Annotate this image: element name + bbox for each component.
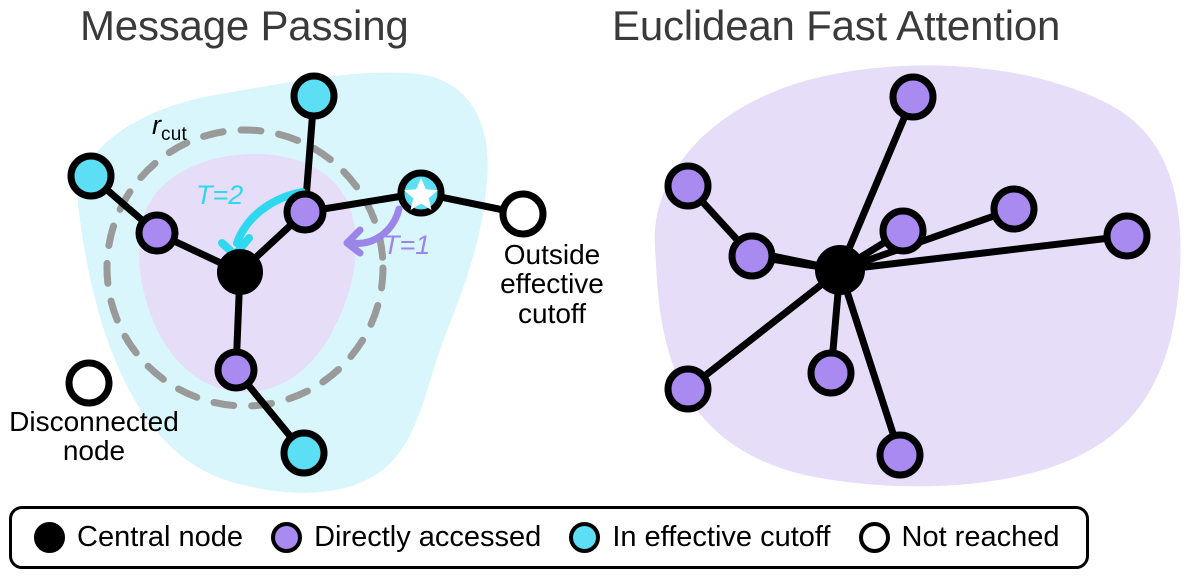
legend-label-central-node: Central node — [77, 521, 243, 554]
panel-title-message-passing: Message Passing — [80, 2, 409, 50]
node-directly-accessed[interactable] — [880, 435, 920, 475]
cutoff-radius-label: rcut — [152, 110, 187, 146]
node-directly-accessed[interactable] — [218, 352, 254, 388]
node-directly-accessed[interactable] — [668, 166, 708, 206]
node-directly-accessed[interactable] — [668, 369, 708, 409]
blob-euclidean-attention — [655, 65, 1181, 486]
disconnected-node-label: Disconnected node — [0, 407, 188, 466]
panel-title-euclidean-fast-attention: Euclidean Fast Attention — [612, 2, 1060, 50]
node-in-effective-cutoff[interactable] — [71, 156, 111, 196]
legend-item-not-reached: Not reached — [859, 521, 1060, 554]
node-central[interactable] — [818, 248, 862, 292]
figure-root: Message Passing Euclidean Fast Attention… — [0, 0, 1200, 588]
legend-item-central-node: Central node — [34, 521, 243, 554]
node-directly-accessed[interactable] — [994, 189, 1034, 229]
node-directly-accessed[interactable] — [893, 77, 933, 117]
legend-label-not-reached: Not reached — [902, 521, 1060, 554]
node-not-reached[interactable] — [503, 194, 543, 234]
legend-label-directly-accessed: Directly accessed — [314, 521, 541, 554]
legend-item-in-effective-cutoff: In effective cutoff — [569, 521, 830, 554]
legend: Central node Directly accessed In effect… — [9, 506, 1089, 569]
node-directly-accessed[interactable] — [732, 236, 772, 276]
cutoff-radius-symbol: r — [152, 110, 161, 140]
cutoff-radius-subscript: cut — [161, 124, 187, 145]
node-directly-accessed[interactable] — [287, 194, 323, 230]
hop-label-t1: T=1 — [383, 230, 430, 261]
node-directly-accessed[interactable] — [139, 215, 175, 251]
node-central[interactable] — [220, 252, 260, 292]
hop-label-t2: T=2 — [196, 180, 243, 211]
outside-effective-cutoff-label: Outside effective cutoff — [486, 240, 618, 328]
node-in-effective-cutoff[interactable] — [284, 433, 324, 473]
node-directly-accessed[interactable] — [883, 211, 923, 251]
legend-swatch-directly-accessed — [271, 522, 302, 553]
node-disconnected[interactable] — [69, 363, 109, 403]
legend-swatch-in-effective-cutoff — [569, 522, 600, 553]
legend-swatch-central-node — [34, 522, 65, 553]
node-in-effective-cutoff[interactable] — [294, 76, 334, 116]
legend-swatch-not-reached — [859, 522, 890, 553]
node-directly-accessed[interactable] — [1107, 216, 1147, 256]
legend-item-directly-accessed: Directly accessed — [271, 521, 541, 554]
legend-label-in-effective-cutoff: In effective cutoff — [612, 521, 830, 554]
node-directly-accessed[interactable] — [811, 353, 851, 393]
